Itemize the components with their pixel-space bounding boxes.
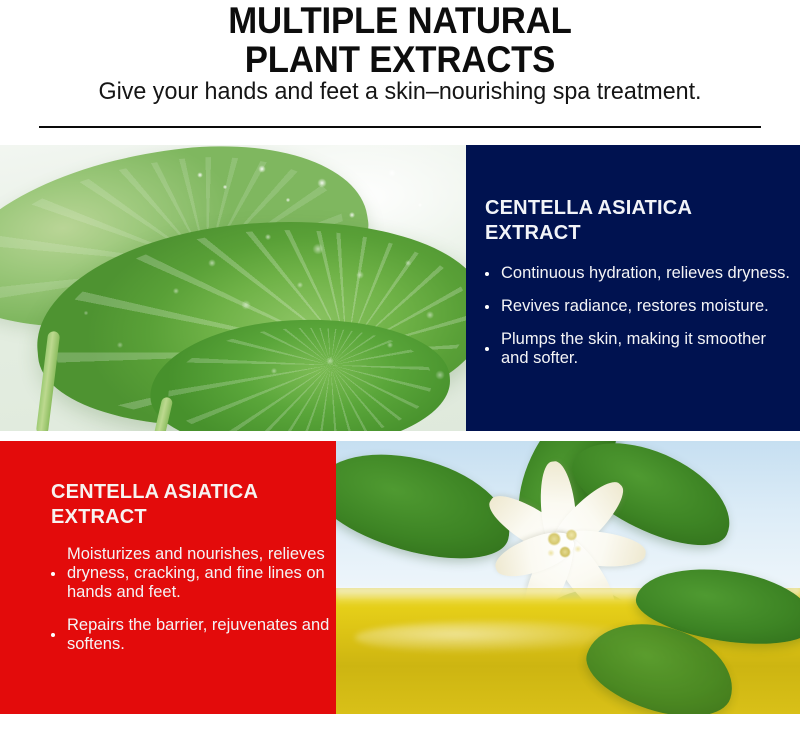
bullet-dot-icon (51, 572, 55, 576)
content-row-1: Centella asiatica leaves covered in wate… (0, 145, 800, 431)
bullet-text: Plumps the skin, making it smoother and … (501, 330, 766, 367)
title-line-2: PLANT EXTRACTS (24, 41, 776, 78)
red-bullets: Moisturizes and nourishes, relieves dryn… (45, 545, 335, 654)
bullet-dot-icon (51, 633, 55, 637)
centella-leaves-image: Centella asiatica leaves covered in wate… (0, 145, 466, 431)
bullet-dot-icon (485, 272, 489, 276)
blue-panel-heading: CENTELLA ASIATICA EXTRACT (485, 196, 781, 246)
header-section: MULTIPLE NATURAL PLANT EXTRACTS Give you… (0, 0, 800, 145)
flower-stamens (538, 519, 592, 569)
red-panel-heading: CENTELLA ASIATICA EXTRACT (51, 480, 323, 530)
bullet-text: Moisturizes and nourishes, relieves dryn… (67, 545, 325, 601)
red-info-panel: CENTELLA ASIATICA EXTRACT Moisturizes an… (0, 441, 336, 714)
blue-panel-bullet-list: Continuous hydration, relieves dryness. … (479, 264, 791, 368)
bullet-text: Continuous hydration, relieves dryness. (501, 264, 790, 282)
bullet-text: Revives radiance, restores moisture. (501, 297, 769, 315)
list-item: Repairs the barrier, rejuvenates and sof… (45, 616, 335, 654)
content-row-2: CENTELLA ASIATICA EXTRACT Moisturizes an… (0, 441, 800, 714)
title-line-1: MULTIPLE NATURAL (24, 2, 776, 39)
bullet-dot-icon (485, 347, 489, 351)
water-droplets-overlay (0, 145, 466, 431)
page-title: MULTIPLE NATURAL PLANT EXTRACTS (0, 2, 800, 78)
bullet-text: Repairs the barrier, rejuvenates and sof… (67, 616, 329, 653)
citrus-blossom-image: White citrus blossom with green leaves a… (336, 441, 800, 714)
list-item: Moisturizes and nourishes, relieves dryn… (45, 545, 335, 602)
page-subtitle: Give your hands and feet a skin–nourishi… (12, 78, 788, 106)
list-item: Continuous hydration, relieves dryness. (479, 264, 791, 283)
infographic-page: MULTIPLE NATURAL PLANT EXTRACTS Give you… (0, 0, 800, 729)
blue-info-panel: CENTELLA ASIATICA EXTRACT Continuous hyd… (466, 145, 800, 431)
list-item: Revives radiance, restores moisture. (479, 297, 791, 316)
red-panel-bullet-list: Moisturizes and nourishes, relieves dryn… (45, 545, 335, 654)
list-item: Plumps the skin, making it smoother and … (479, 330, 791, 368)
bullet-dot-icon (485, 305, 489, 309)
header-divider (39, 126, 761, 128)
blue-bullets: Continuous hydration, relieves dryness. … (479, 264, 791, 368)
